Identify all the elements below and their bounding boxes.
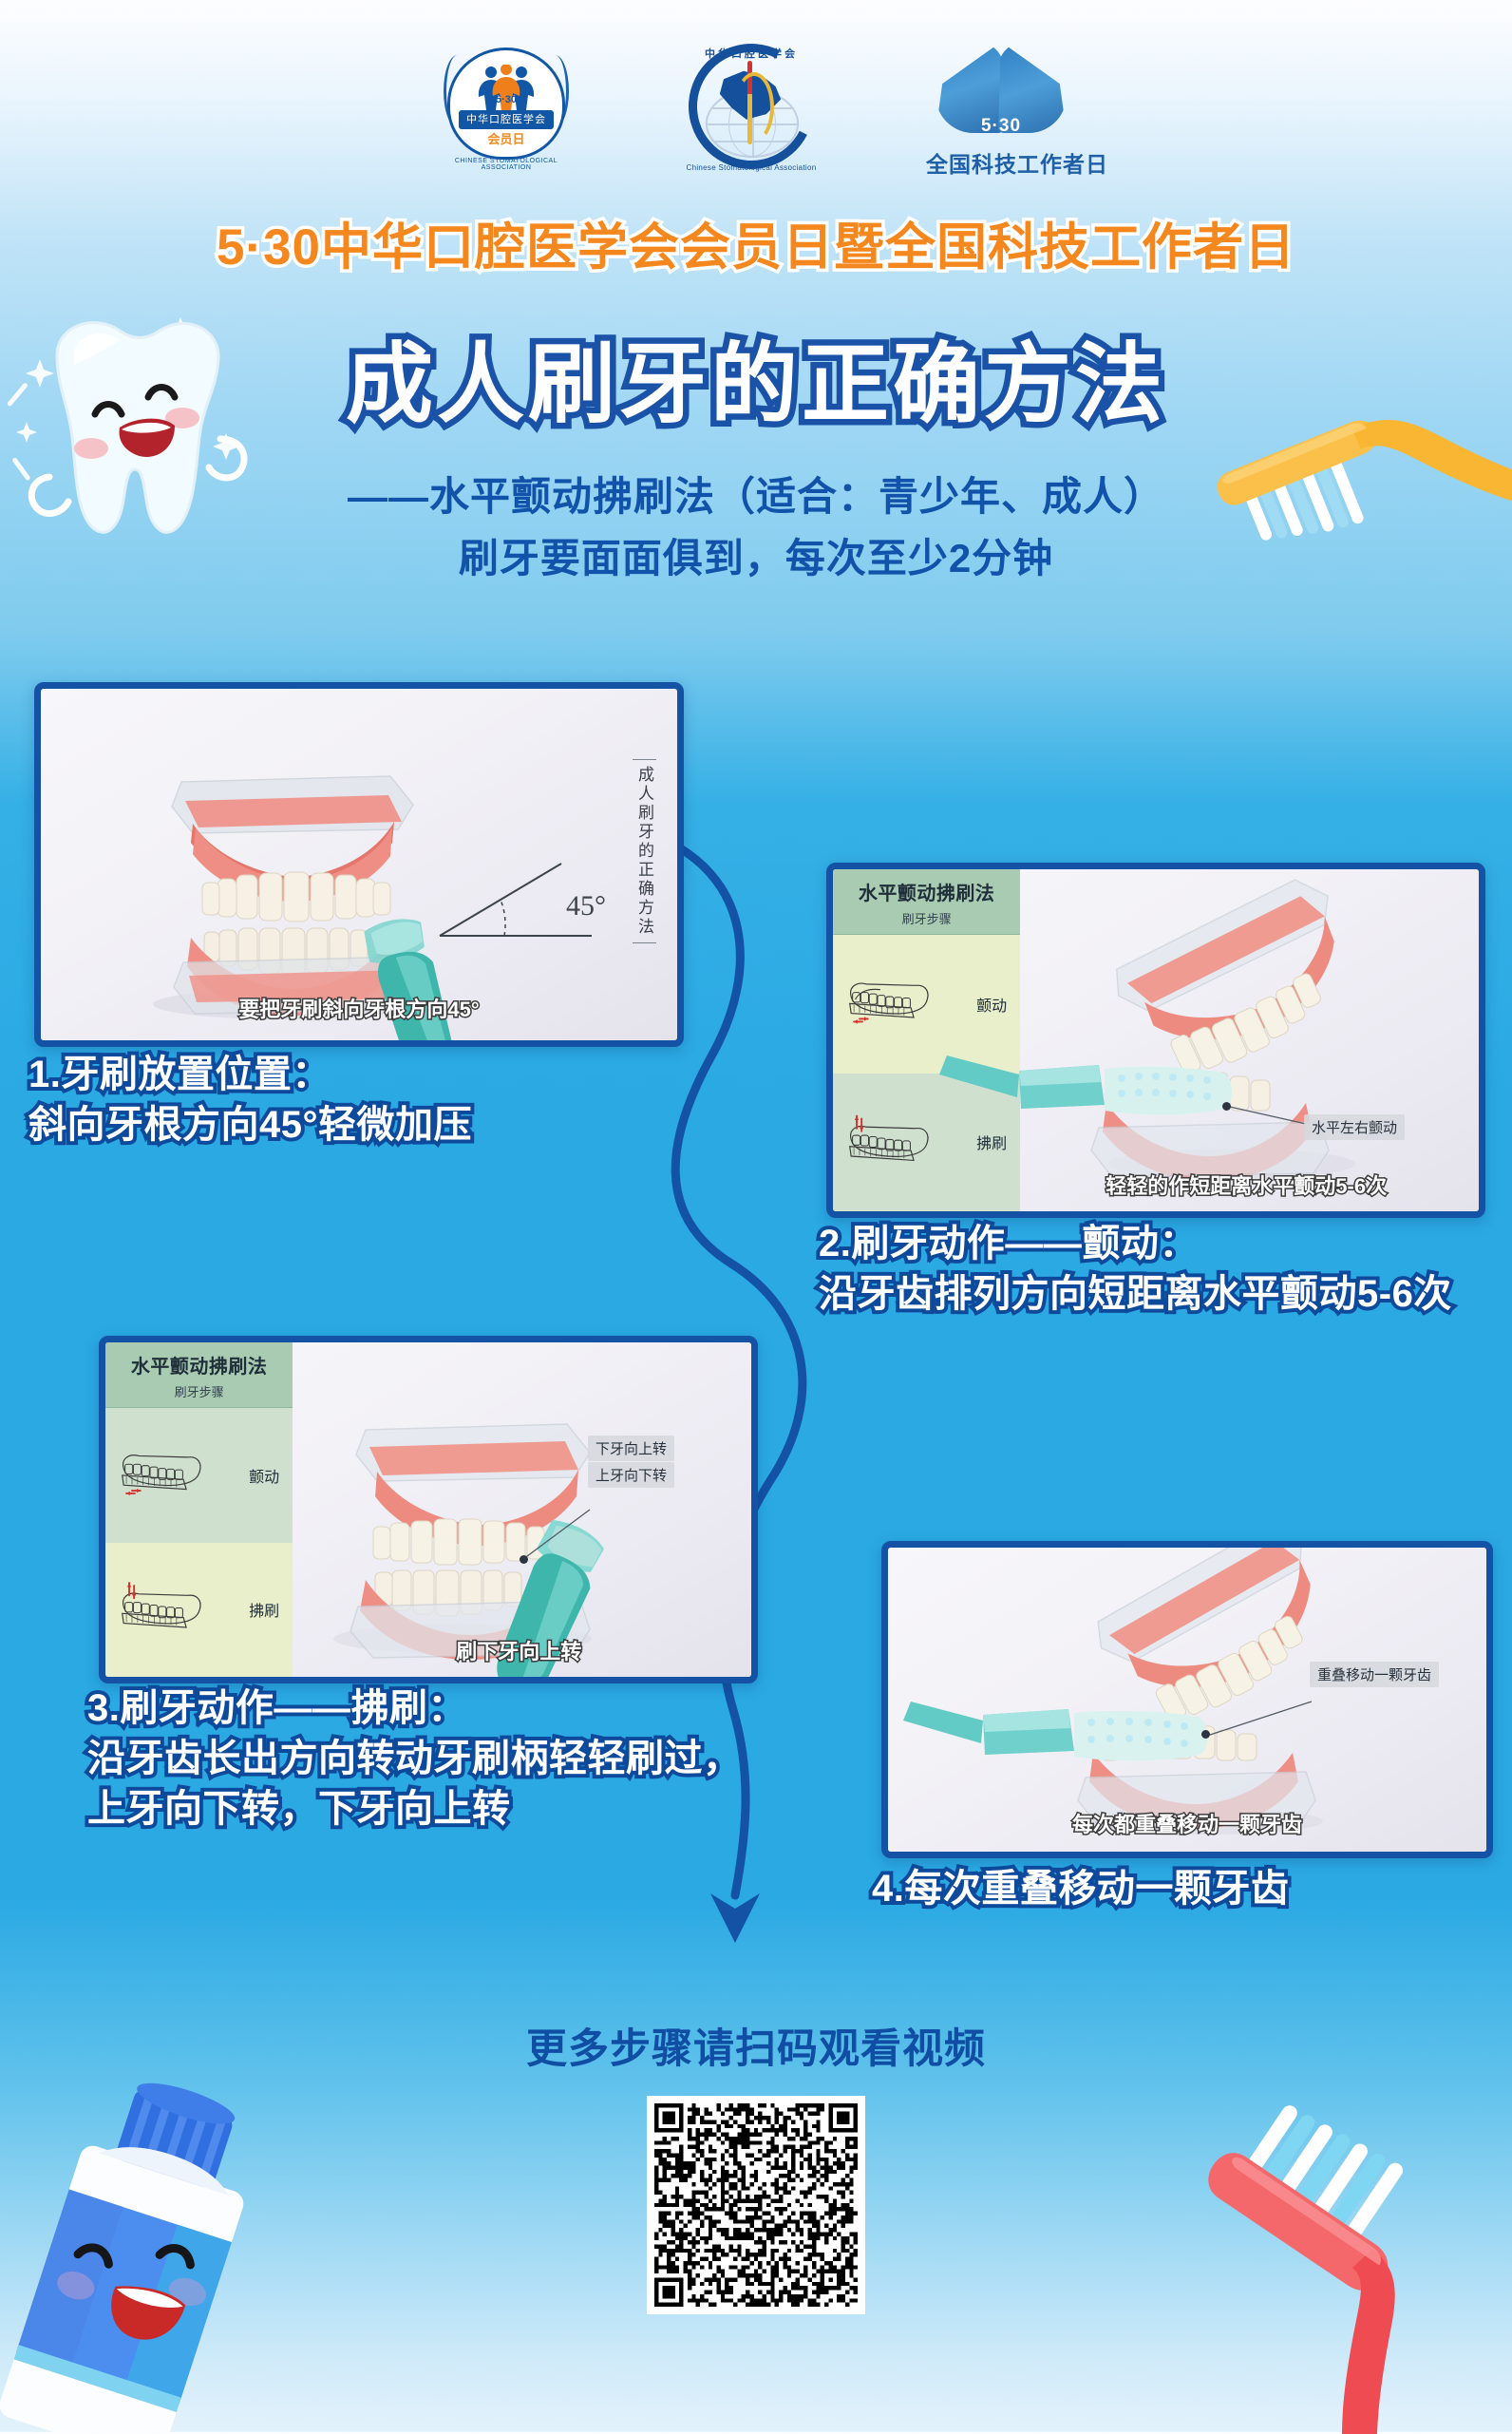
step-2-text: 2.刷牙动作——颤动： 沿牙齿排列方向短距离水平颤动5-6次: [819, 1219, 1503, 1320]
panel-2-callout-1: 水平左右颤动: [1304, 1114, 1405, 1140]
dental-model-photo-2: [833, 869, 1479, 1211]
panel-4-callout-anchor: [1201, 1730, 1210, 1739]
panel-3-callout-1: 下牙向上转: [588, 1436, 674, 1461]
panel-4-callout-1: 重叠移动一颗牙齿: [1310, 1662, 1439, 1687]
step-1-line-1: 1.牙刷放置位置：: [28, 1050, 693, 1100]
step-2-line-2: 沿牙齿排列方向短距离水平颤动5-6次: [819, 1269, 1503, 1320]
panel-1-caption: 要把牙刷斜向牙根方向45°: [41, 993, 677, 1023]
dental-model-photo-3: [105, 1342, 751, 1677]
panel-3-caption: 刷下牙向上转: [286, 1635, 751, 1665]
step-4-line-1: 4.每次重叠移动一颗牙齿: [872, 1864, 1512, 1914]
qr-code[interactable]: [647, 2096, 865, 2314]
panel-3: 水平颤动拂刷法 刷牙步骤: [99, 1336, 758, 1683]
panel-4: 重叠移动一颗牙齿 每次都重叠移动一颗牙齿: [881, 1541, 1493, 1858]
dental-model-photo-1: [41, 689, 677, 1040]
panel-2-caption: 轻轻的作短距离水平颤动5-6次: [1013, 1169, 1479, 1200]
scan-note: 更多步骤请扫码观看视频: [0, 2016, 1512, 2075]
step-3-line-1: 3.刷牙动作——拂刷：: [87, 1683, 838, 1734]
panel-2-callout-anchor: [1222, 1102, 1231, 1111]
panel-4-caption: 每次都重叠移动一颗牙齿: [888, 1808, 1486, 1838]
step-3-text: 3.刷牙动作——拂刷： 沿牙齿长出方向转动牙刷柄轻轻刷过， 上牙向下转，下牙向上…: [87, 1683, 838, 1834]
angle-45-label: 45°: [566, 890, 606, 922]
dental-model-photo-4: [888, 1548, 1486, 1852]
step-2-line-1: 2.刷牙动作——颤动：: [819, 1219, 1503, 1269]
step-3-line-3: 上牙向下转，下牙向上转: [87, 1784, 838, 1835]
step-1-text: 1.牙刷放置位置： 斜向牙根方向45°轻微加压: [28, 1050, 693, 1150]
panel-2: 水平颤动拂刷法 刷牙步骤: [826, 863, 1485, 1218]
panel-1-vertical-text: 成人刷牙的正确方法: [633, 759, 656, 943]
step-3-line-2: 沿牙齿长出方向转动牙刷柄轻轻刷过，: [87, 1734, 838, 1784]
panel-3-callout-anchor: [520, 1555, 528, 1564]
panel-3-callout-2: 上牙向下转: [588, 1462, 674, 1488]
step-4-text: 4.每次重叠移动一颗牙齿: [872, 1864, 1512, 1914]
panel-1: 45° 成人刷牙的正确方法 要把牙刷斜向牙根方向45°: [34, 682, 684, 1047]
step-1-line-2: 斜向牙根方向45°轻微加压: [28, 1100, 693, 1150]
